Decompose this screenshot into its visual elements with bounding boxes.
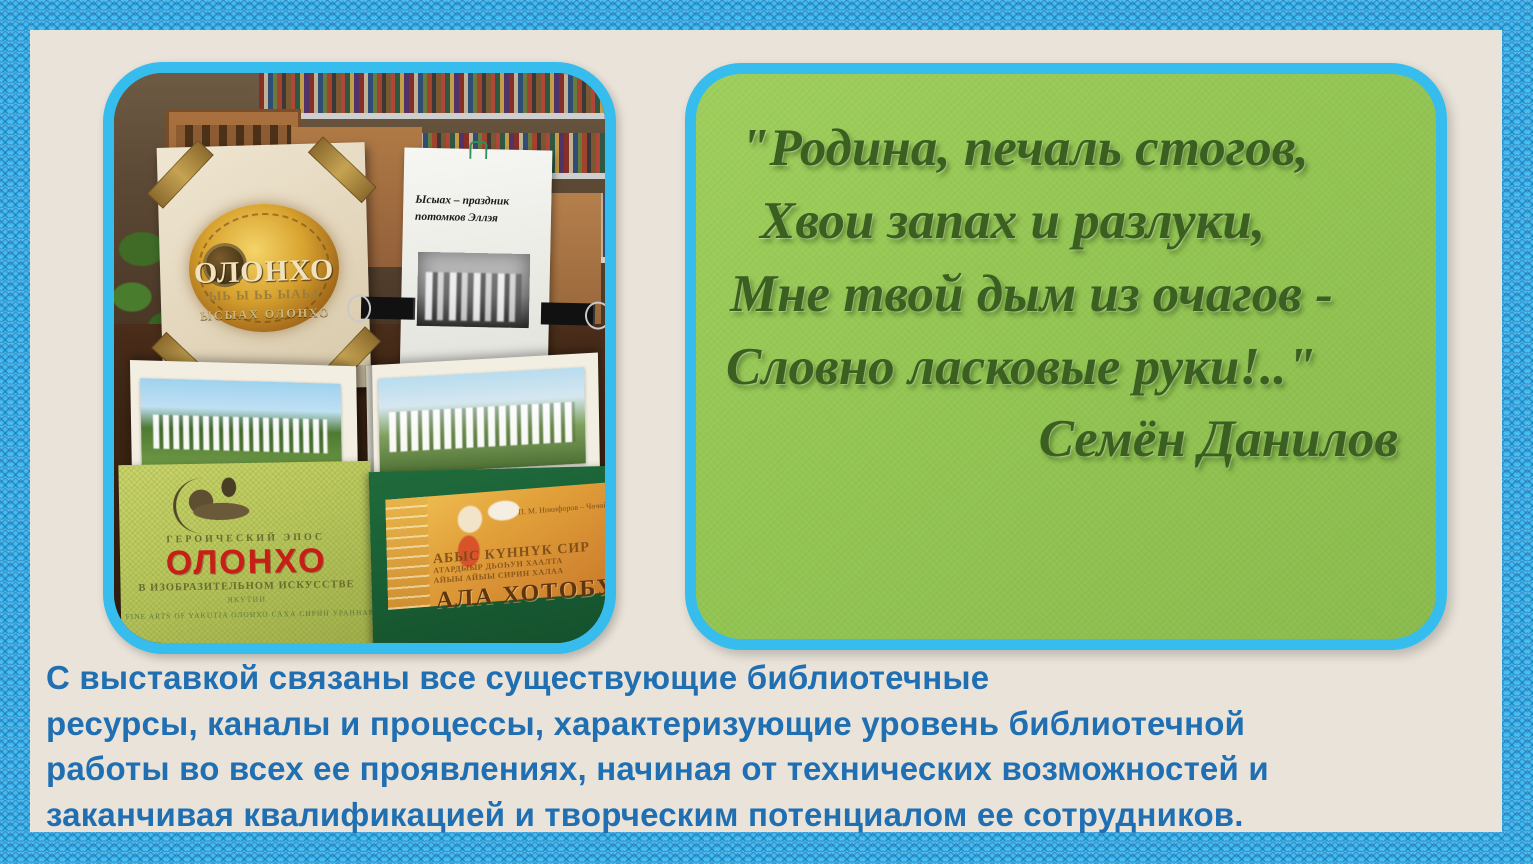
quote-line-4: Словно ласковые руки!.." [726, 331, 1412, 404]
caption-line-4: заканчивая квалификацией и творческим по… [46, 792, 1494, 838]
paper-clip-icon [469, 141, 487, 159]
album-footer: ЫСЫАХ ОЛОНХО [200, 305, 331, 324]
binder-clip [541, 302, 595, 325]
quote-line-1: "Родина, печаль стогов, [726, 112, 1412, 185]
sign-bw-photo [417, 252, 531, 328]
sign-line-2: потомков Эллэя [415, 208, 543, 227]
book-english-subtitle: HEROIC EPOS OLONKHO IN THE FINE ARTS OF … [118, 604, 373, 624]
ala-khotobut-book: П. М. Никифоров – Чөчөй АБЫС КҮННҮК СИР … [369, 466, 605, 643]
cover-ornament [385, 497, 430, 610]
caption-paragraph: С выставкой связаны все существующие биб… [46, 655, 1494, 837]
book-subtitle: В ИЗОБРАЗИТЕЛЬНОМ ИСКУССТВЕ [138, 579, 354, 594]
page-photo [140, 378, 342, 472]
photo-image: ОЛОНХО ЫЬ Ы ЬЬ ЫАЬА ЫСЫАХ ОЛОНХО Ысыах –… [114, 73, 605, 643]
books-strip [259, 73, 605, 113]
slide-root: ОЛОНХО ЫЬ Ы ЬЬ ЫАЬА ЫСЫАХ ОЛОНХО Ысыах –… [0, 0, 1533, 864]
binder-clip [361, 297, 415, 320]
caption-line-2: ресурсы, каналы и процессы, характеризую… [46, 701, 1494, 747]
page-photo [378, 367, 586, 474]
olonkho-art-book: ГЕРОИЧЕСКИЙ ЭПОС ОЛОНХО В ИЗОБРАЗИТЕЛЬНО… [118, 461, 373, 643]
bookshelf-row [259, 73, 605, 119]
poem-quote-card[interactable]: "Родина, печаль стогов, Хвои запах и раз… [685, 63, 1447, 650]
exhibition-photo-card[interactable]: ОЛОНХО ЫЬ Ы ЬЬ ЫАЬА ЫСЫАХ ОЛОНХО Ысыах –… [103, 62, 616, 654]
caption-line-3: работы во всех ее проявлениях, начиная о… [46, 746, 1494, 792]
album-corner-ornament [147, 140, 214, 209]
paper-sign: Ысыах – праздник потомков Эллэя [400, 147, 553, 382]
horseman-illustration [165, 474, 296, 538]
caption-line-1: С выставкой связаны все существующие биб… [46, 655, 1494, 701]
quote-line-3: Мне твой дым из очагов - [726, 258, 1412, 331]
olonkho-album-cover: ОЛОНХО ЫЬ Ы ЬЬ ЫАЬА ЫСЫАХ ОЛОНХО [157, 142, 372, 393]
quote-author: Семён Данилов [726, 409, 1412, 469]
quote-text-block: "Родина, печаль стогов, Хвои запах и раз… [726, 112, 1412, 469]
book-title: ОЛОНХО [165, 542, 326, 584]
album-subtitle: ЫЬ Ы ЬЬ ЫАЬА [208, 286, 321, 305]
slide-canvas: ОЛОНХО ЫЬ Ы ЬЬ ЫАЬА ЫСЫАХ ОЛОНХО Ысыах –… [30, 30, 1502, 832]
cover-band: П. М. Никифоров – Чөчөй АБЫС КҮННҮК СИР … [385, 481, 605, 609]
book-subtitle-2: ЯКУТИИ [227, 595, 266, 605]
sign-text-block: Ысыах – праздник потомков Эллэя [415, 192, 544, 228]
quote-line-2: Хвои запах и разлуки, [726, 185, 1412, 258]
